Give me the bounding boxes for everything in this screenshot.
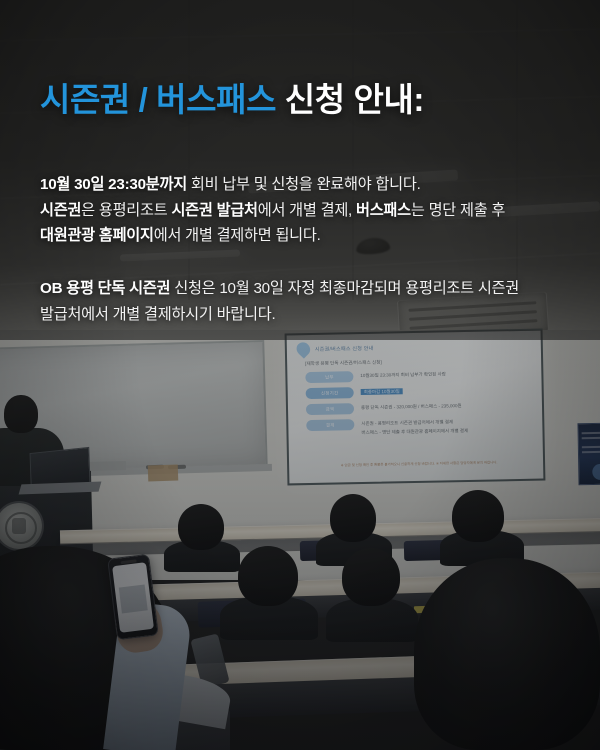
- deadline-emphasis: 10월 30일 23:30분까지: [40, 176, 187, 193]
- paragraph-ob-season-pass: OB 용평 단독 시즌권 신청은 10월 30일 자정 최종마감되며 용평리조트…: [40, 276, 519, 327]
- announcement-card: 시즌권/버스패스 신청 안내 [재학생 용평 단독 시즌권/버스패스 신청] 납…: [0, 0, 600, 750]
- paragraph-line: 시즌권은 용평리조트 시즌권 발급처에서 개별 결제, 버스패스는 명단 제출 …: [40, 198, 505, 224]
- ob-season-pass-emphasis: OB 용평 단독 시즌권: [40, 280, 170, 297]
- homepage-emphasis: 대원관광 홈페이지: [40, 227, 154, 244]
- page-title: 시즌권 / 버스패스 신청 안내:: [40, 80, 424, 120]
- paragraph-text: 에서 개별 결제하면 됩니다.: [154, 227, 321, 244]
- paragraph-payment-info: 10월 30일 23:30분까지 회비 납부 및 신청을 완료해야 합니다. 시…: [40, 172, 505, 249]
- issuing-office-emphasis: 시즌권 발급처: [171, 202, 257, 219]
- title-accent-text: 시즌권 / 버스패스: [40, 81, 276, 118]
- paragraph-text: 신청은 10월 30일 자정 최종마감되며 용평리조트 시즌권: [170, 280, 519, 297]
- paragraph-text: 회비 납부 및 신청을 완료해야 합니다.: [187, 176, 421, 193]
- paragraph-line: 10월 30일 23:30분까지 회비 납부 및 신청을 완료해야 합니다.: [40, 172, 505, 198]
- title-plain-text: 신청 안내:: [276, 81, 424, 118]
- paragraph-line: OB 용평 단독 시즌권 신청은 10월 30일 자정 최종마감되며 용평리조트…: [40, 276, 519, 302]
- paragraph-line: 발급처에서 개별 결제하시기 바랍니다.: [40, 302, 519, 328]
- paragraph-text: 에서 개별 결제,: [258, 202, 356, 219]
- season-pass-emphasis: 시즌권: [40, 202, 81, 219]
- paragraph-text: 은 용평리조트: [81, 202, 171, 219]
- paragraph-line: 대원관광 홈페이지에서 개별 결제하면 됩니다.: [40, 223, 505, 249]
- text-content-layer: 시즌권 / 버스패스 신청 안내: 10월 30일 23:30분까지 회비 납부…: [0, 0, 600, 750]
- paragraph-text: 는 명단 제출 후: [411, 202, 505, 219]
- bus-pass-emphasis: 버스패스: [356, 202, 411, 219]
